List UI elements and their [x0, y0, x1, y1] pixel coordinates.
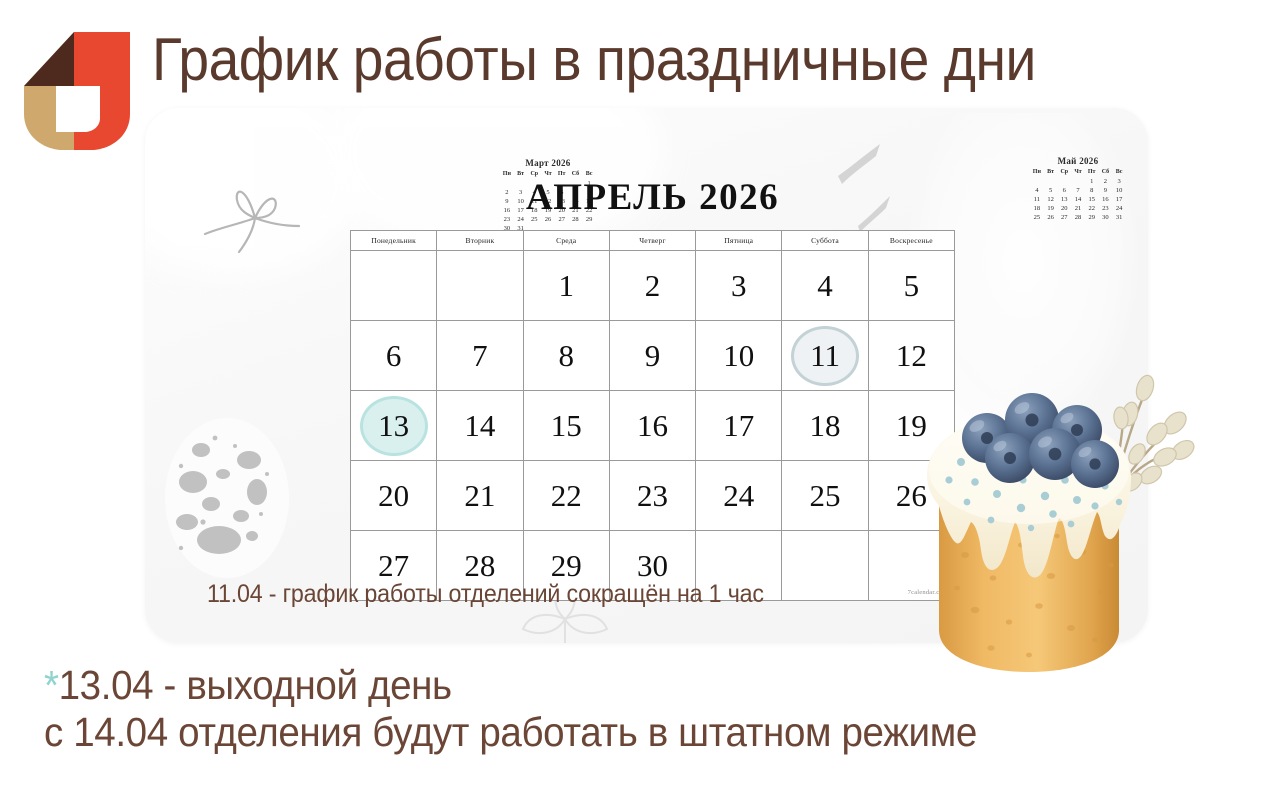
mini-day: 15: [1085, 195, 1099, 204]
weekday-header: Среда: [523, 231, 609, 251]
calendar-day-cell[interactable]: 7: [437, 321, 523, 391]
day-number: 21: [464, 478, 495, 513]
speckled-quail-egg-icon: [157, 408, 297, 583]
day-number: 29: [551, 548, 582, 583]
mini-dow: Ср: [1057, 168, 1071, 177]
calendar-grid: Понедельник Вторник Среда Четверг Пятниц…: [350, 230, 955, 601]
calendar-day-cell-highlighted-11[interactable]: 11: [782, 321, 868, 391]
mini-calendar-title: Май 2026: [1030, 156, 1126, 166]
mini-day: 23: [1099, 204, 1113, 213]
mini-day: 12: [1044, 195, 1058, 204]
day-number: 2: [645, 268, 661, 303]
mini-day: 10: [1112, 186, 1126, 195]
calendar-day-cell[interactable]: 21: [437, 461, 523, 531]
calendar-day-cell[interactable]: 25: [782, 461, 868, 531]
calendar-day-cell[interactable]: 24: [696, 461, 782, 531]
calendar-day-cell[interactable]: 5: [868, 251, 954, 321]
mini-day: 13: [1057, 195, 1071, 204]
mini-day: 24: [1112, 204, 1126, 213]
footer-line-1-text: 13.04 - выходной день: [59, 662, 452, 708]
ribbon-bow-icon: [195, 170, 325, 275]
calendar-day-cell[interactable]: 1: [523, 251, 609, 321]
day-number: 14: [464, 408, 495, 443]
mini-day: 27: [1057, 213, 1071, 222]
mini-calendar-may: Май 2026 Пн Вт Ср Чт Пт Сб Вс 1 2 3 4 5 …: [1030, 156, 1126, 222]
calendar-day-cell[interactable]: 4: [782, 251, 868, 321]
card-caption: 11.04 - график работы отделений сокращён…: [207, 580, 764, 609]
calendar-day-cell[interactable]: [782, 531, 868, 601]
mini-day: 5: [1044, 186, 1058, 195]
mini-day: 2: [1099, 177, 1113, 186]
mini-dow: Вс: [1112, 168, 1126, 177]
day-number: 9: [645, 338, 661, 373]
mini-dow: Пн: [1030, 168, 1044, 177]
calendar-day-cell-highlighted-13[interactable]: 13: [351, 391, 437, 461]
day-number: 17: [723, 408, 754, 443]
day-number: 1: [558, 268, 574, 303]
mini-day: [1044, 177, 1058, 186]
day-number: 8: [558, 338, 574, 373]
mini-day: 17: [1112, 195, 1126, 204]
calendar-day-cell[interactable]: [351, 251, 437, 321]
calendar-day-cell[interactable]: 3: [696, 251, 782, 321]
calendar-day-cell[interactable]: 18: [782, 391, 868, 461]
mini-day: 30: [1099, 213, 1113, 222]
mini-day: [1071, 177, 1085, 186]
mini-day: 18: [1030, 204, 1044, 213]
weekday-header: Четверг: [609, 231, 695, 251]
weekday-header: Пятница: [696, 231, 782, 251]
day-number: 16: [637, 408, 668, 443]
day-number: 10: [723, 338, 754, 373]
calendar-day-cell[interactable]: 22: [523, 461, 609, 531]
calendar-day-cell[interactable]: 20: [351, 461, 437, 531]
mini-day: 4: [1030, 186, 1044, 195]
footer-line-2: с 14.04 отделения будут работать в штатн…: [44, 709, 1172, 756]
mini-calendar-title: Март 2026: [500, 158, 596, 168]
mini-day: 25: [1030, 213, 1044, 222]
easter-kulich-illustration: [905, 330, 1205, 680]
day-number: 11: [810, 338, 840, 373]
calendar-day-cell[interactable]: 23: [609, 461, 695, 531]
day-number: 20: [378, 478, 409, 513]
calendar-day-cell[interactable]: 9: [609, 321, 695, 391]
calendar-day-cell[interactable]: 15: [523, 391, 609, 461]
mini-day: 3: [1112, 177, 1126, 186]
company-shield-logo: [18, 30, 136, 152]
mini-day: 20: [1057, 204, 1071, 213]
day-number: 30: [637, 548, 668, 583]
mini-day: 16: [1099, 195, 1113, 204]
mini-day: 31: [1112, 213, 1126, 222]
day-number: 28: [464, 548, 495, 583]
mini-day: 6: [1057, 186, 1071, 195]
calendar-day-cell[interactable]: 10: [696, 321, 782, 391]
weekday-header: Суббота: [782, 231, 868, 251]
day-number: 24: [723, 478, 754, 513]
day-number: 18: [810, 408, 841, 443]
mini-day: [1057, 177, 1071, 186]
mini-dow: Пт: [1085, 168, 1099, 177]
calendar-week-row: 1 2 3 4 5: [351, 251, 955, 321]
day-number: 22: [551, 478, 582, 513]
day-number: 13: [378, 408, 409, 443]
mini-day: 22: [1085, 204, 1099, 213]
calendar-day-cell[interactable]: 6: [351, 321, 437, 391]
mini-day: 28: [1071, 213, 1085, 222]
mini-dow: Чт: [1071, 168, 1085, 177]
calendar-week-row: 13 14 15 16 17 18 19: [351, 391, 955, 461]
mini-day: 11: [1030, 195, 1044, 204]
calendar-day-cell[interactable]: 8: [523, 321, 609, 391]
mini-day: 14: [1071, 195, 1085, 204]
page-title: График работы в праздничные дни: [152, 27, 1036, 93]
weekday-header: Понедельник: [351, 231, 437, 251]
mini-day: 8: [1085, 186, 1099, 195]
day-number: 4: [817, 268, 833, 303]
weekday-header: Воскресенье: [868, 231, 954, 251]
day-number: 27: [378, 548, 409, 583]
day-number: 5: [904, 268, 920, 303]
mini-day: 1: [1085, 177, 1099, 186]
calendar-day-cell[interactable]: 2: [609, 251, 695, 321]
calendar-day-cell[interactable]: 14: [437, 391, 523, 461]
calendar-weekday-row: Понедельник Вторник Среда Четверг Пятниц…: [351, 231, 955, 251]
mini-day: 29: [1085, 213, 1099, 222]
calendar-week-row: 20 21 22 23 24 25 26: [351, 461, 955, 531]
calendar-week-row: 6 7 8 9 10 11 12: [351, 321, 955, 391]
day-number: 25: [810, 478, 841, 513]
mini-day: 21: [1071, 204, 1085, 213]
mini-calendar-grid: Пн Вт Ср Чт Пт Сб Вс 1 2 3 4 5 6 7 8 9: [1030, 168, 1126, 222]
mini-day: 26: [1044, 213, 1058, 222]
mini-day: [1030, 177, 1044, 186]
calendar-day-cell[interactable]: 16: [609, 391, 695, 461]
calendar-day-cell[interactable]: [437, 251, 523, 321]
calendar-day-cell[interactable]: 17: [696, 391, 782, 461]
calendar-month-title: АПРЕЛЬ 2026: [350, 176, 955, 219]
page-header: График работы в праздничные дни: [0, 0, 1280, 110]
mini-day: 19: [1044, 204, 1058, 213]
day-number: 6: [386, 338, 402, 373]
mini-dow: Сб: [1099, 168, 1113, 177]
day-number: 7: [472, 338, 488, 373]
mini-day: 7: [1071, 186, 1085, 195]
mini-day: 9: [1099, 186, 1113, 195]
mini-dow: Вт: [1044, 168, 1058, 177]
asterisk-marker: *: [44, 662, 59, 708]
day-number: 15: [551, 408, 582, 443]
weekday-header: Вторник: [437, 231, 523, 251]
day-number: 23: [637, 478, 668, 513]
day-number: 3: [731, 268, 747, 303]
